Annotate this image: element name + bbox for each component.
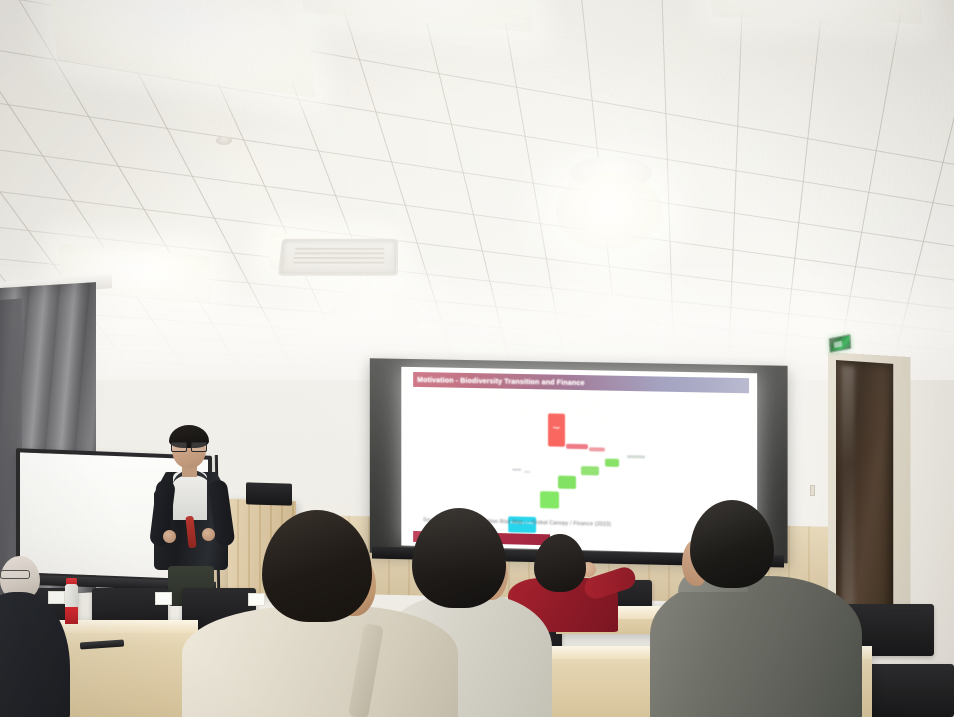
chair[interactable] — [860, 664, 954, 717]
ceiling — [0, 0, 954, 380]
risk-box-g4 — [540, 491, 559, 508]
axis-tick — [512, 469, 521, 471]
risk-box-g2 — [581, 466, 599, 475]
risk-bar-2 — [589, 447, 605, 451]
name-tag — [248, 593, 265, 606]
risk-bar-1 — [566, 444, 588, 449]
round-light — [556, 172, 662, 250]
confidence-monitor — [246, 482, 292, 505]
presenter-hand-right — [202, 528, 215, 541]
conference-room-photo: Motivation - Biodiversity Transition and… — [0, 0, 954, 717]
presenter-hand-left — [163, 530, 176, 543]
glasses-icon — [0, 570, 30, 579]
glasses-icon — [171, 442, 207, 450]
audience-body-olive — [650, 576, 862, 717]
risk-bar-3 — [627, 455, 645, 458]
risk-box-g1 — [605, 459, 619, 467]
bottle-label — [65, 607, 78, 624]
light-switch[interactable] — [810, 485, 815, 496]
presenter — [140, 428, 244, 603]
risk-box-g3 — [558, 476, 576, 489]
door-highlight — [842, 366, 854, 610]
name-tag — [48, 591, 65, 604]
smoke-detector-icon — [216, 136, 232, 145]
name-tag — [155, 592, 172, 605]
audience-body-beige — [182, 606, 458, 717]
risk-box-high-label: High — [548, 426, 565, 430]
axis-tick — [524, 471, 530, 473]
